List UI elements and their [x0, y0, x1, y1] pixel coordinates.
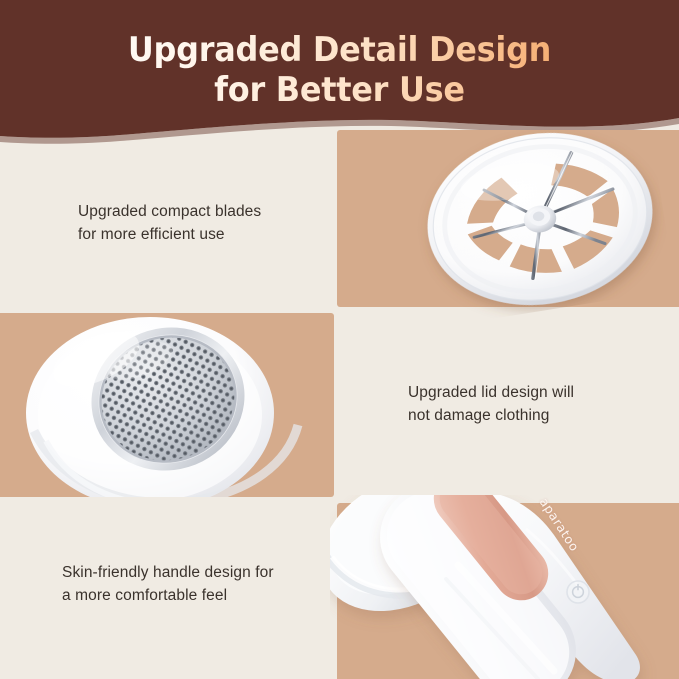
header-title-line-2: for Better Use	[20, 70, 658, 110]
mesh-lid-graphic	[0, 313, 334, 497]
blade-disc-photo	[417, 128, 679, 308]
caption-handle: Skin-friendly handle design for a more c…	[62, 561, 330, 607]
caption-lid: Upgraded lid design will not damage clot…	[408, 381, 658, 427]
mesh-lid-photo	[0, 313, 334, 497]
caption-blades: Upgraded compact blades for more efficie…	[78, 200, 328, 246]
power-button	[567, 581, 589, 603]
header-title: Upgraded Detail Design for Better Use	[0, 30, 679, 110]
handle-graphic	[330, 495, 679, 679]
infographic-page: Upgraded Detail Design for Better Use	[0, 0, 679, 679]
handle-photo: aparatoo	[330, 495, 679, 679]
header-title-line-1: Upgraded Detail Design	[20, 30, 658, 70]
blade-disc-graphic	[404, 110, 675, 328]
